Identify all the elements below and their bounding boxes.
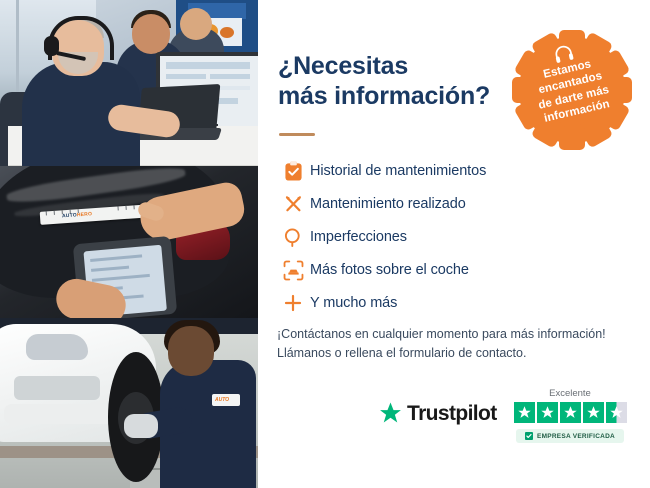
title-divider (279, 133, 315, 136)
car-photo-frame-glyph (283, 260, 304, 281)
content-panel: ¿Necesitas más información? (258, 0, 650, 488)
feature-label: Imperfecciones (310, 229, 407, 245)
trustpilot-rating: Excelente (506, 388, 634, 443)
rating-label: Excelente (506, 388, 634, 399)
feature-label: Mantenimiento realizado (310, 196, 466, 212)
feature-item-imperfections: Imperfecciones (276, 221, 606, 253)
trustpilot-widget[interactable]: Trustpilot Excelente (378, 388, 634, 450)
mechanic-head (168, 326, 214, 376)
feature-item-maintenance-done: Mantenimiento realizado (276, 188, 606, 220)
vehicle-inspection-photo: AUTOHERO (0, 166, 258, 318)
check-badge-icon (525, 432, 533, 440)
title-line-1: ¿Necesitas (278, 52, 528, 82)
feature-item-more-photos: Más fotos sobre el coche (276, 254, 606, 286)
badge-text: Estamos encantados de darte más informac… (505, 49, 639, 132)
car-bumper (4, 404, 124, 424)
page-title: ¿Necesitas más información? (278, 52, 528, 111)
contact-line-2: Llámanos o rellena el formulario de cont… (277, 344, 637, 363)
wrench-screwdriver-glyph (283, 194, 304, 215)
help-badge: Estamos encantados de darte más informac… (510, 28, 634, 152)
feature-list: Historial de mantenimientos Mantenimient… (276, 155, 606, 320)
contact-line-1: ¡Contáctanos en cualquier momento para m… (277, 325, 637, 344)
star-5-half (606, 402, 627, 423)
feature-label: Y mucho más (310, 295, 397, 311)
magnifier-glyph (283, 227, 303, 248)
mechanic-glove (124, 414, 158, 438)
star-2 (537, 402, 558, 423)
photo-collage: AUTOHERO (0, 0, 258, 488)
clipboard-check-icon (276, 159, 310, 183)
trustpilot-wordmark: Trustpilot (407, 402, 497, 426)
star-1 (514, 402, 535, 423)
plus-icon (276, 291, 310, 315)
wrench-screwdriver-icon (276, 192, 310, 216)
call-center-agent-photo (0, 0, 258, 166)
trustpilot-logo: Trustpilot (378, 401, 497, 426)
car-grille (14, 376, 100, 400)
verified-company-badge: EMPRESA VERIFICADA (516, 429, 624, 443)
feature-item-much-more: Y mucho más (276, 287, 606, 319)
feature-item-maintenance-history: Historial de mantenimientos (276, 155, 606, 187)
star-rating (506, 402, 634, 423)
title-line-2: más información? (278, 82, 528, 112)
promo-card: AUTOHERO (0, 0, 650, 488)
contact-text: ¡Contáctanos en cualquier momento para m… (277, 325, 637, 364)
star-3 (560, 402, 581, 423)
wheel-service-photo: AUTO (0, 318, 258, 488)
car-photo-frame-icon (276, 258, 310, 282)
clipboard-check-glyph (284, 161, 303, 182)
uniform-logo-patch: AUTO (212, 394, 240, 406)
feature-label: Historial de mantenimientos (310, 163, 486, 179)
car-headlight (26, 334, 88, 360)
feature-label: Más fotos sobre el coche (310, 262, 469, 278)
magnifier-icon (276, 225, 310, 249)
ruler-brand-a: AUTO (62, 212, 77, 219)
star-4 (583, 402, 604, 423)
verified-label: EMPRESA VERIFICADA (537, 433, 615, 440)
ruler-brand-b: HERO (77, 211, 93, 218)
trustpilot-star-icon (378, 401, 403, 426)
plus-glyph (283, 293, 303, 313)
